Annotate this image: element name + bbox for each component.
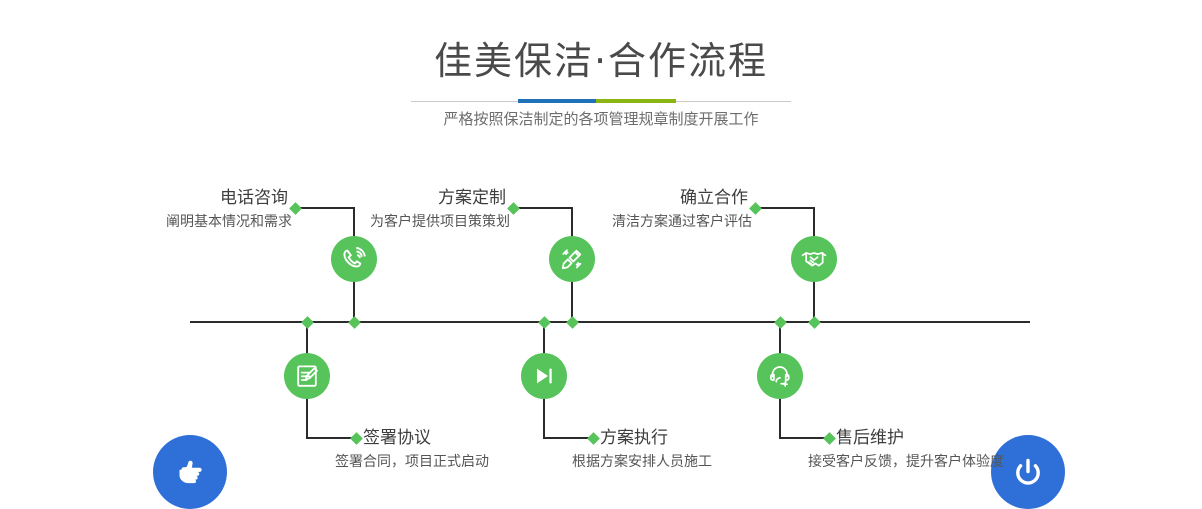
title-divider <box>411 99 791 103</box>
phone-call-icon <box>339 244 369 274</box>
document-edit-icon <box>292 361 322 391</box>
flow-step-title-3: 方案定制 <box>350 187 506 209</box>
connector-horizontal <box>306 437 356 439</box>
connector-horizontal <box>297 207 355 209</box>
play-next-icon <box>529 361 559 391</box>
connector-horizontal <box>543 437 593 439</box>
flow-step-subtitle-1: 阐明基本情况和需求 <box>60 212 292 232</box>
connector-horizontal <box>757 207 815 209</box>
page-header: 佳美保洁·合作流程 严格按照保洁制定的各项管理规章制度开展工作 <box>0 0 1202 150</box>
flow-start-node[interactable] <box>153 435 227 509</box>
flow-step-icon-5[interactable] <box>791 236 837 282</box>
connector-diamond-label <box>350 432 363 445</box>
flow-step-title-5: 确立合作 <box>600 187 748 209</box>
connector-diamond-axis <box>348 316 361 329</box>
flow-step-icon-6[interactable] <box>757 353 803 399</box>
connector-horizontal <box>515 207 573 209</box>
connector-horizontal <box>779 437 829 439</box>
process-flow-diagram: 电话咨询 阐明基本情况和需求 签署协议 签署合同，项目正式启动 <box>0 150 1202 502</box>
flow-step-icon-3[interactable] <box>549 236 595 282</box>
flow-step-subtitle-3: 为客户提供项目策策划 <box>290 212 510 232</box>
page-title: 佳美保洁·合作流程 <box>0 38 1202 84</box>
pointing-hand-icon <box>169 451 211 493</box>
divider-segment-green <box>596 99 676 103</box>
page-subtitle: 严格按照保洁制定的各项管理规章制度开展工作 <box>0 107 1202 131</box>
pencil-ruler-icon <box>557 244 587 274</box>
headset-support-icon <box>765 361 795 391</box>
timeline-axis <box>190 321 1030 323</box>
flow-step-icon-4[interactable] <box>521 353 567 399</box>
divider-segment-blue <box>518 99 596 103</box>
flow-step-icon-2[interactable] <box>284 353 330 399</box>
connector-diamond-axis <box>538 316 551 329</box>
flow-step-title-6: 售后维护 <box>836 427 1096 449</box>
flow-step-subtitle-6: 接受客户反馈，提升客户体验度 <box>808 452 1128 472</box>
flow-step-subtitle-5: 清洁方案通过客户评估 <box>530 212 752 232</box>
connector-diamond-axis <box>808 316 821 329</box>
handshake-icon <box>799 244 829 274</box>
flow-step-icon-1[interactable] <box>331 236 377 282</box>
connector-diamond-axis <box>301 316 314 329</box>
flow-step-title-1: 电话咨询 <box>120 187 288 209</box>
connector-diamond-axis <box>774 316 787 329</box>
connector-diamond-axis <box>566 316 579 329</box>
